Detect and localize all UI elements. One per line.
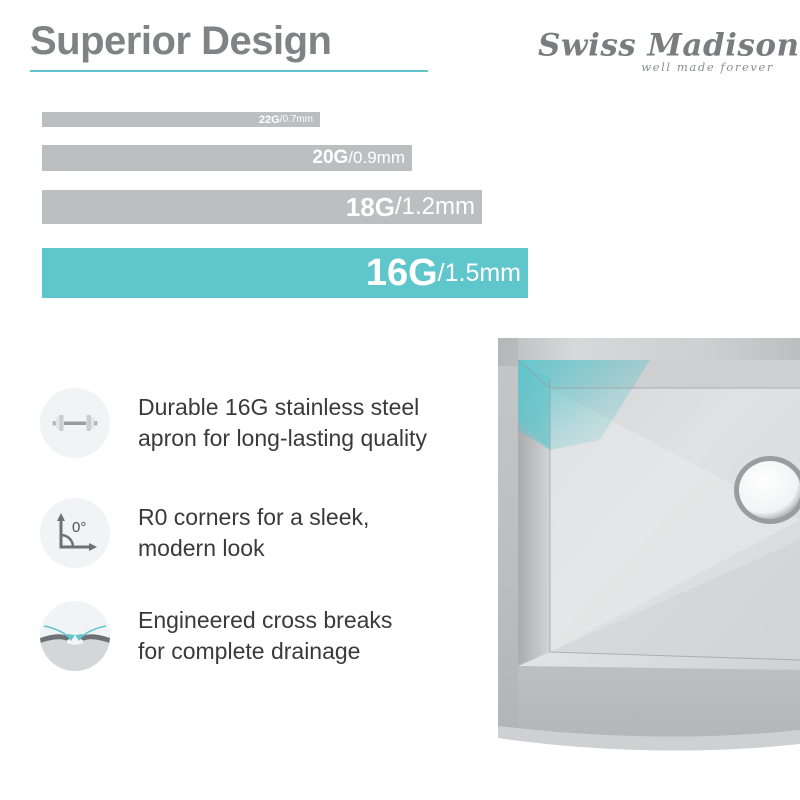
angle-zero-degree-icon: 0° (40, 498, 110, 568)
page-header: Superior Design Swiss Madison® well made… (0, 0, 800, 100)
brand-logo-text: Swiss Madison (538, 27, 800, 63)
brand-logo: Swiss Madison® well made forever (538, 24, 778, 74)
gauge-bar-label-separator: / (438, 259, 445, 288)
gauge-bar-label-thickness: 1.5mm (445, 259, 521, 288)
brand-logo-name: Swiss Madison® (538, 24, 778, 62)
gauge-bar-20g: 20G / 0.9mm (42, 145, 412, 171)
gauge-bar-label-thickness: 1.2mm (402, 193, 475, 221)
product-image-sink (460, 330, 800, 770)
gauge-bar-label-gauge: 16G (366, 252, 438, 295)
page-title: Superior Design (30, 18, 331, 64)
gauge-bar-label-gauge: 22G (259, 114, 280, 126)
gauge-comparison-chart: 22G / 0.7mm 20G / 0.9mm 18G / 1.2mm 16G … (0, 100, 560, 305)
feature-text: Engineered cross breaks for complete dra… (138, 605, 392, 667)
dumbbell-icon (40, 388, 110, 458)
gauge-bar-22g: 22G / 0.7mm (42, 112, 320, 127)
angle-value-label: 0° (72, 519, 86, 536)
feature-text: Durable 16G stainless steel apron for lo… (138, 392, 427, 454)
title-underline (30, 70, 428, 72)
gauge-bar-label-gauge: 20G (312, 147, 348, 169)
gauge-bar-label-thickness: 0.7mm (282, 114, 313, 125)
feature-item-cross-breaks: Engineered cross breaks for complete dra… (40, 601, 392, 671)
feature-text: R0 corners for a sleek, modern look (138, 502, 369, 564)
gauge-bar-18g: 18G / 1.2mm (42, 190, 482, 224)
feature-item-durability: Durable 16G stainless steel apron for lo… (40, 388, 427, 458)
gauge-bar-16g-highlighted: 16G / 1.5mm (42, 248, 528, 298)
gauge-bar-label-gauge: 18G (346, 192, 395, 223)
gauge-bar-label-thickness: 0.9mm (353, 148, 405, 168)
feature-item-r0-corners: 0° R0 corners for a sleek, modern look (40, 498, 369, 568)
cross-break-drainage-icon (40, 601, 110, 671)
gauge-bar-label-separator: / (395, 193, 402, 221)
